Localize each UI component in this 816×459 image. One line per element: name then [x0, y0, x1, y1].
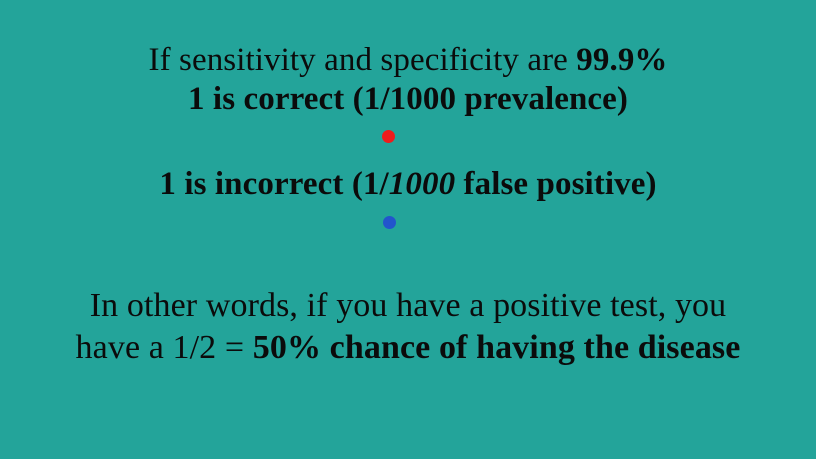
sensitivity-value-emphasis: 99.9%	[576, 42, 667, 78]
incorrect-text-block: 1 is incorrect (1/1000 false positive)	[0, 168, 816, 201]
sensitivity-specificity-line: If sensitivity and specificity are 99.9%	[0, 44, 816, 77]
slide-canvas: If sensitivity and specificity are 99.9%…	[0, 0, 816, 459]
conclusion-first-line: In other words, if you have a positive t…	[0, 289, 816, 323]
sensitivity-prefix-text: If sensitivity and specificity are	[148, 42, 576, 78]
premise-text-block: If sensitivity and specificity are 99.9%…	[0, 44, 816, 116]
conclusion-text-block: In other words, if you have a positive t…	[0, 289, 816, 365]
conclusion-second-line: have a 1/2 = 50% chance of having the di…	[0, 331, 816, 365]
incorrect-false-positive-number: 1000	[389, 166, 455, 202]
correct-prefix-text: 1 is correct (1/	[188, 81, 390, 117]
incorrect-prefix-text: 1 is incorrect (1/	[159, 166, 388, 202]
red-dot-icon	[382, 130, 395, 143]
conclusion-fraction-prefix: have a 1/2 =	[76, 329, 253, 366]
correct-prevalence-number: 1000	[390, 81, 456, 117]
correct-suffix-text: prevalence)	[456, 81, 628, 117]
conclusion-probability-emphasis: 50% chance of having the disease	[253, 329, 741, 366]
blue-dot-icon	[383, 216, 396, 229]
one-is-correct-line: 1 is correct (1/1000 prevalence)	[0, 83, 816, 116]
incorrect-suffix-text: false positive)	[455, 166, 656, 202]
one-is-incorrect-line: 1 is incorrect (1/1000 false positive)	[0, 168, 816, 201]
